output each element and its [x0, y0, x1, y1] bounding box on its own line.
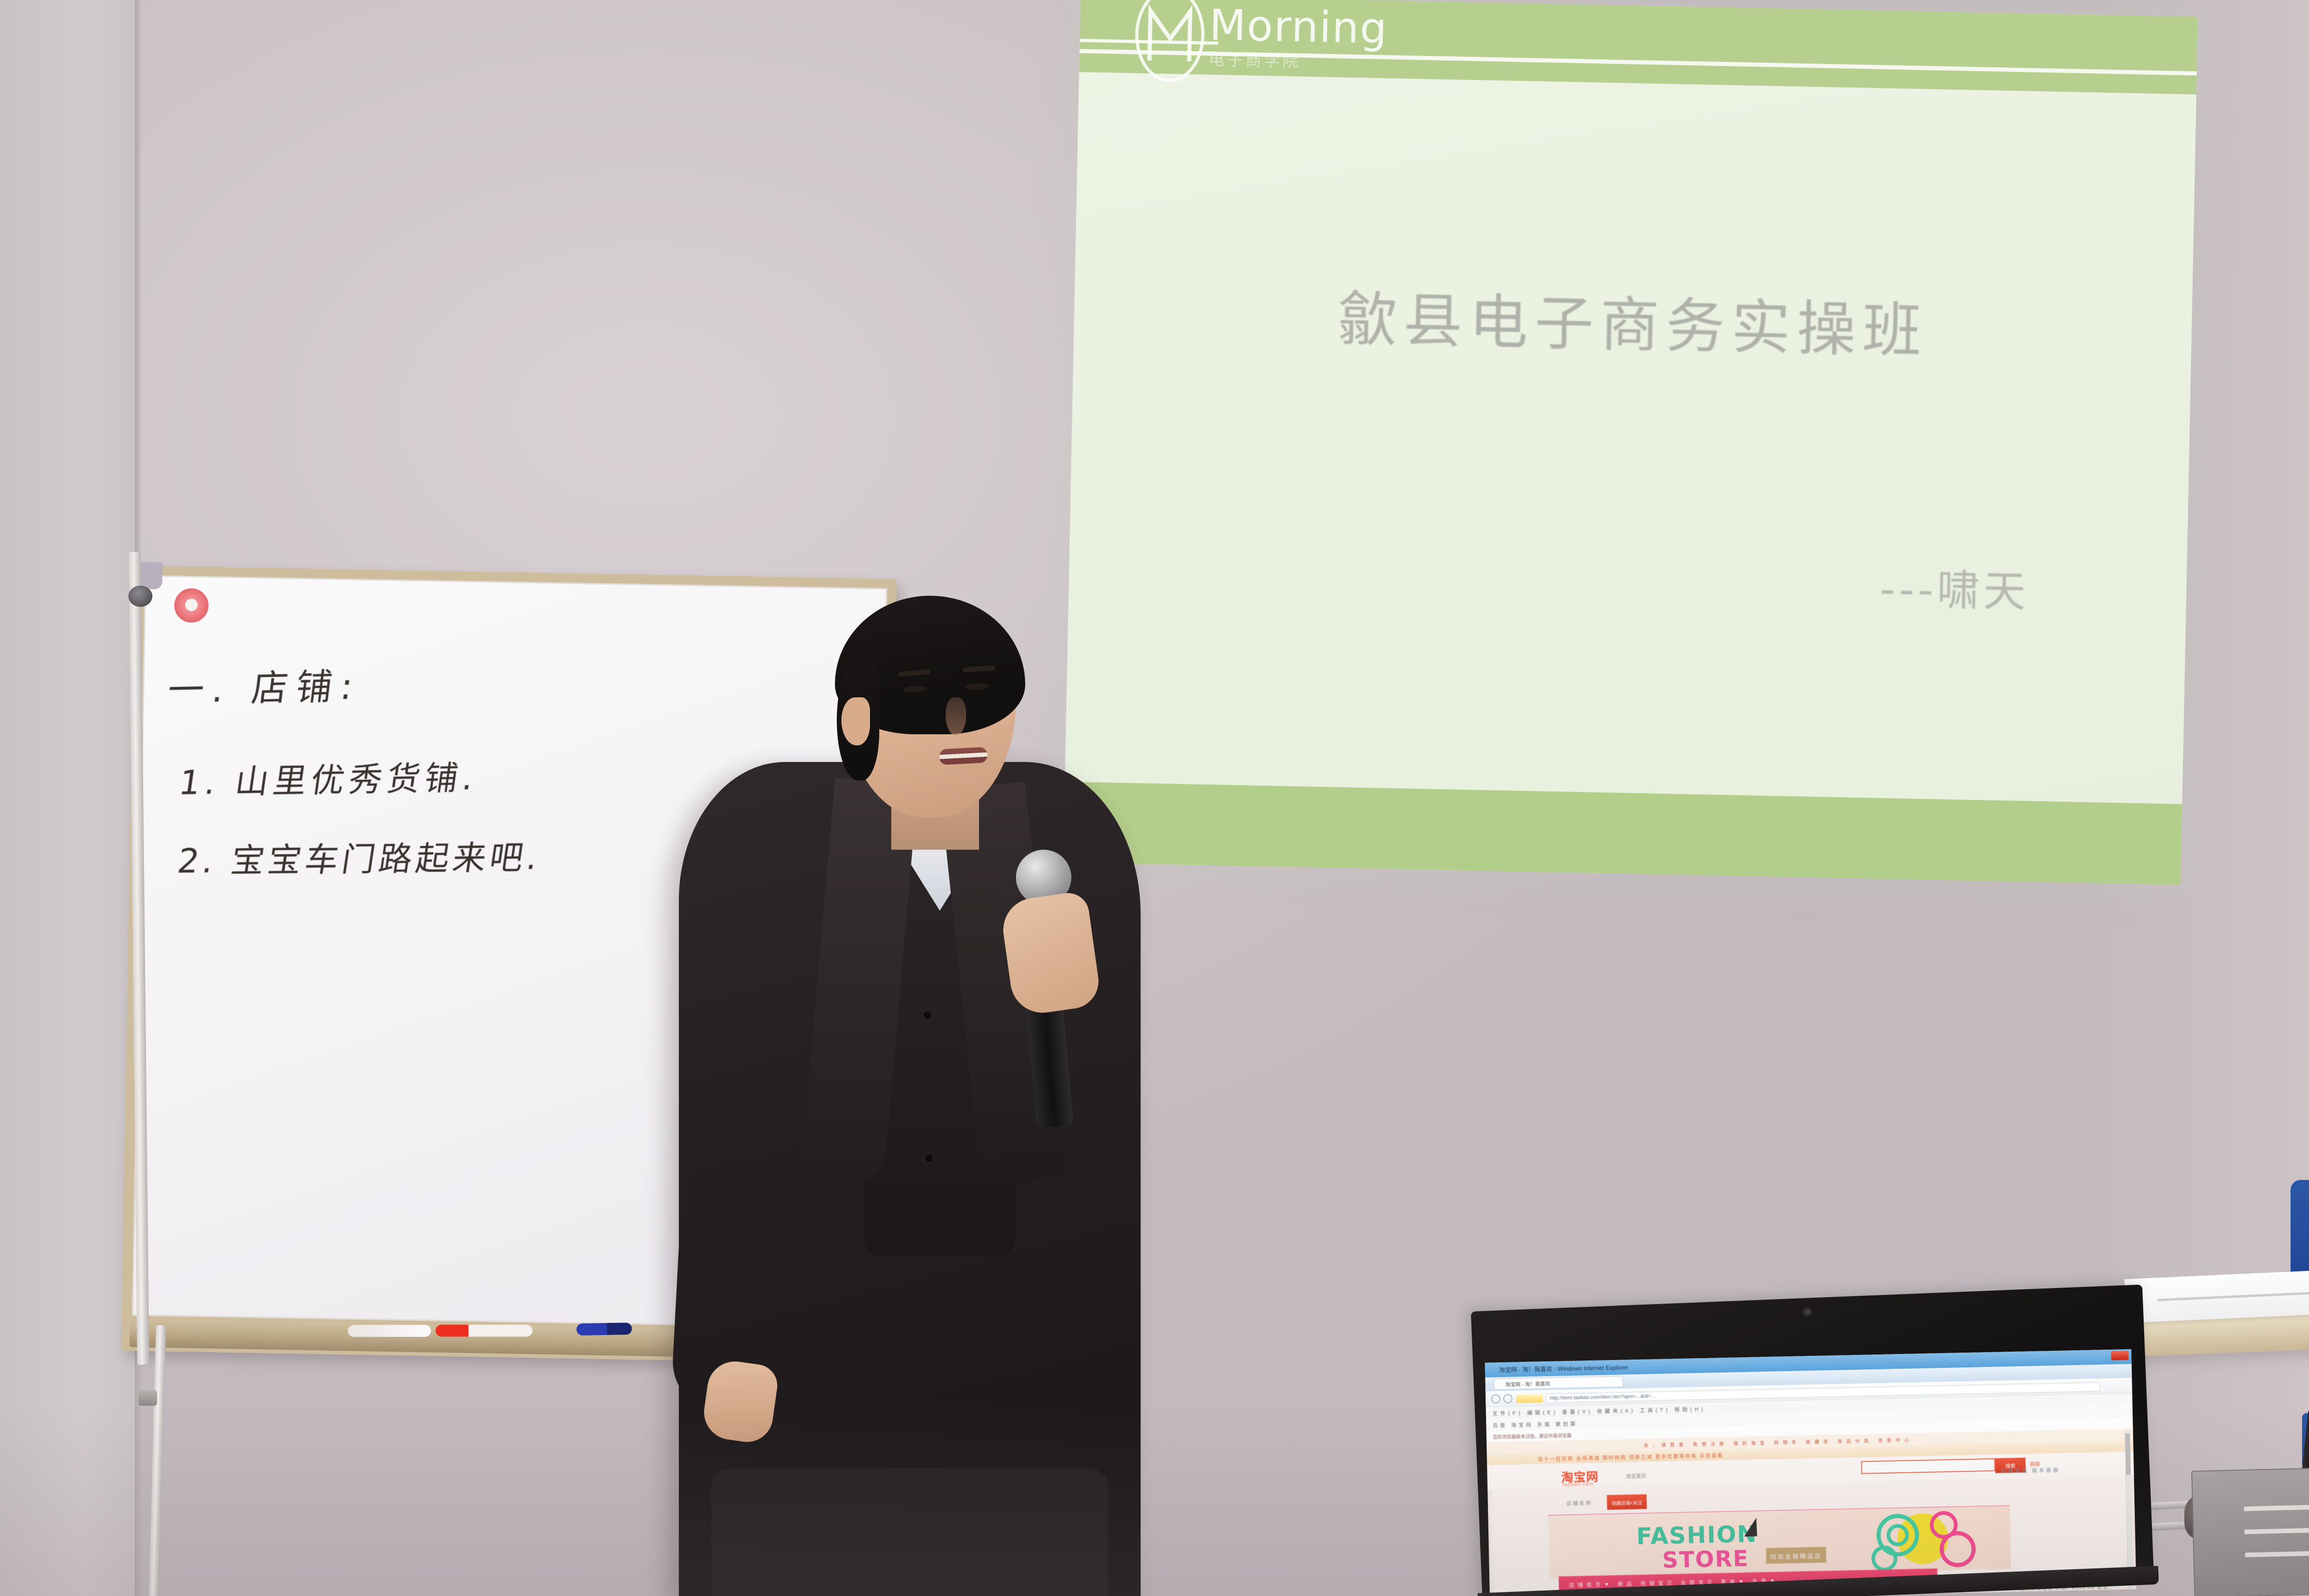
slide-title: 歙县电子商务实操班 [1073, 266, 2192, 374]
paper-text-line [2158, 1292, 2309, 1301]
blue-marker-icon [576, 1323, 632, 1336]
left-wall-panel [0, 0, 139, 1596]
whiteboard-line-1: 一. 店铺: [165, 657, 364, 713]
whiteboard-line-3: 2. 宝宝车门路起来吧. [175, 830, 545, 882]
presenter-mouth [939, 747, 988, 765]
brand-chinese-subtitle: 电子商学院 [1209, 47, 1387, 73]
classroom-scene: Morning 电子商学院 歙县电子商务实操班 ---啸天 一. 店铺: 1. … [0, 0, 2309, 1596]
floor-shadow [0, 1402, 2309, 1596]
brand-wordmark: Morning [1209, 5, 1388, 48]
presenter-ear [841, 697, 870, 745]
presenter-nose [946, 697, 966, 735]
close-icon[interactable] [2111, 1351, 2128, 1360]
presenter-coat-button-2 [925, 1155, 933, 1162]
projected-slide: Morning 电子商学院 歙县电子商务实操班 ---啸天 [1063, 0, 2198, 885]
whiteboard-logo-badge-icon [174, 588, 209, 623]
white-marker-icon [348, 1325, 431, 1337]
whiteboard-tilt-knob [128, 586, 152, 607]
laptop-webcam-icon [1802, 1307, 1812, 1317]
browser-window-title: 淘宝网 - 淘！我喜欢 - Windows Internet Explorer [1499, 1362, 1628, 1374]
slide-body: 歙县电子商务实操班 ---啸天 [1065, 72, 2196, 804]
presenter-coat-button-1 [924, 1011, 931, 1019]
browser-tab[interactable]: 淘宝网 - 淘！我喜欢 [1493, 1376, 1623, 1390]
morning-m-oval-logo-icon [1134, 0, 1205, 83]
whiteboard-line-2: 1. 山里优秀货铺. [176, 750, 482, 804]
red-marker-icon [435, 1324, 532, 1336]
slide-subtitle: ---啸天 [1880, 555, 2030, 619]
